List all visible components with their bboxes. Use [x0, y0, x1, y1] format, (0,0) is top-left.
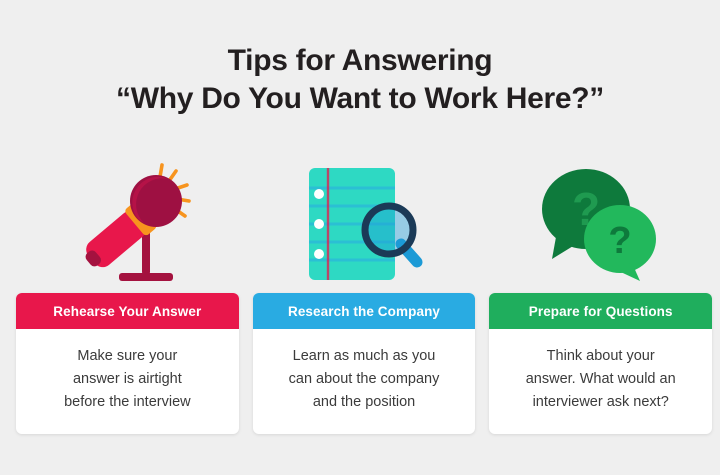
tip-card-header-research: Research the Company	[253, 293, 476, 329]
notebook-hole	[314, 219, 324, 229]
title-line-1: Tips for Answering	[0, 42, 720, 80]
page-title: Tips for Answering “Why Do You Want to W…	[0, 42, 720, 118]
tip-card-body-rehearse: Make sure your answer is airtight before…	[16, 329, 239, 434]
icon-cell-prepare: ? ?	[480, 160, 712, 288]
tip-card-research[interactable]: Research the Company Learn as much as yo…	[253, 293, 476, 434]
tip-card-header-rehearse: Rehearse Your Answer	[16, 293, 239, 329]
tip-body-line: Make sure your	[30, 345, 225, 368]
notebook-hole	[314, 249, 324, 259]
notebook-magnifier-icon	[301, 162, 427, 286]
tip-card-prepare[interactable]: Prepare for Questions Think about your a…	[489, 293, 712, 434]
tip-body-line: interviewer ask next?	[503, 391, 698, 414]
tip-card-body-research: Learn as much as you can about the compa…	[253, 329, 476, 434]
tip-body-line: Learn as much as you	[267, 345, 462, 368]
tips-card-row: Rehearse Your Answer Make sure your answ…	[16, 293, 712, 434]
tip-card-body-prepare: Think about your answer. What would an i…	[489, 329, 712, 434]
speech-bubbles-icon: ? ?	[528, 163, 664, 285]
icon-cell-research	[248, 160, 480, 288]
tip-body-line: and the position	[267, 391, 462, 414]
tip-card-header-prepare: Prepare for Questions	[489, 293, 712, 329]
tip-card-rehearse[interactable]: Rehearse Your Answer Make sure your answ…	[16, 293, 239, 434]
tip-body-line: can about the company	[267, 368, 462, 391]
front-speech-bubble: ?	[584, 205, 656, 281]
microphone-icon	[72, 161, 192, 287]
tip-body-line: Think about your	[503, 345, 698, 368]
question-mark-front: ?	[608, 220, 631, 262]
notebook-hole	[314, 189, 324, 199]
tip-body-line: before the interview	[30, 391, 225, 414]
tip-body-line: answer is airtight	[30, 368, 225, 391]
title-line-2: “Why Do You Want to Work Here?”	[0, 80, 720, 118]
icon-row: ? ?	[16, 160, 712, 288]
mic-head	[130, 175, 182, 227]
icon-cell-rehearse	[16, 160, 248, 288]
tip-body-line: answer. What would an	[503, 368, 698, 391]
infographic-root: Tips for Answering “Why Do You Want to W…	[0, 0, 720, 475]
